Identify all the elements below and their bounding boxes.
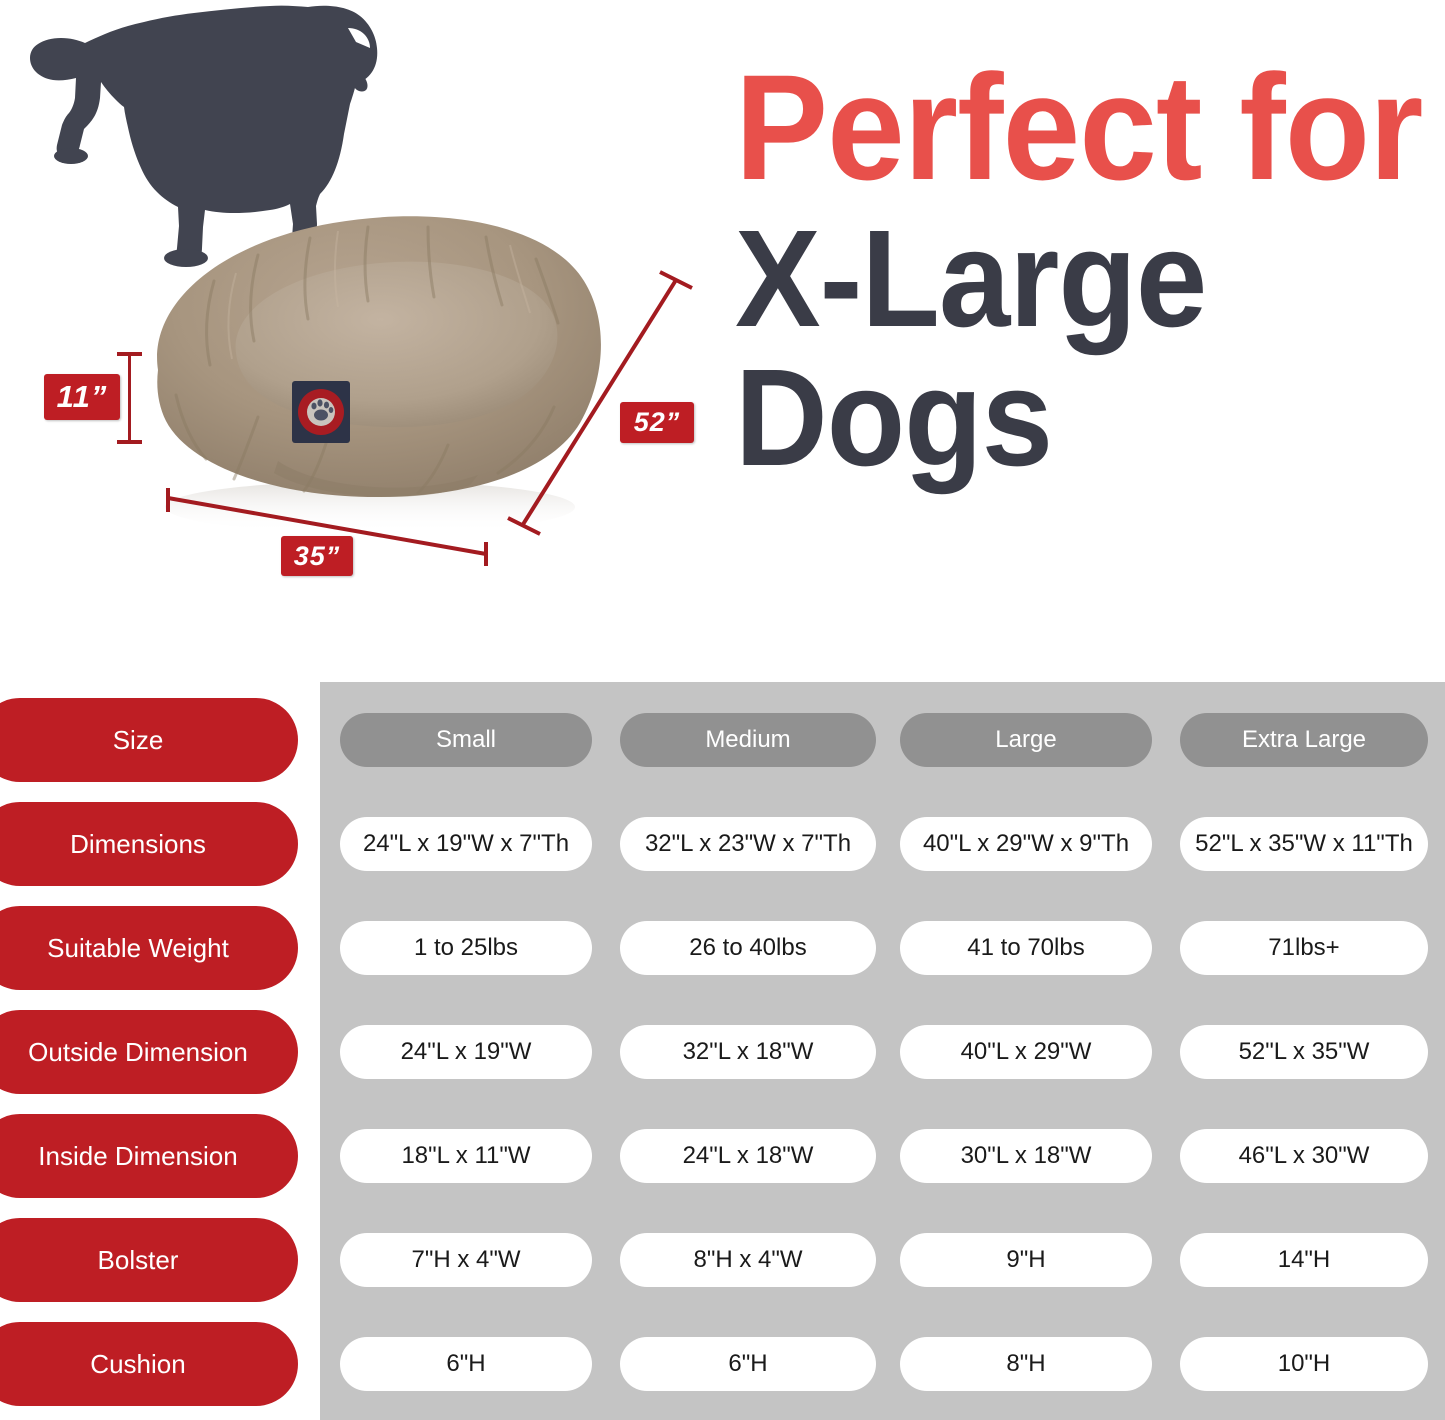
cell-weight-extra-large: 71lbs+ bbox=[1180, 921, 1428, 975]
table-row: Bolster 7"H x 4"W 8"H x 4"W 9"H 14"H bbox=[0, 1218, 1445, 1302]
cell-inside-medium: 24"L x 18"W bbox=[620, 1129, 876, 1183]
table-row: Size Small Medium Large Extra Large bbox=[0, 698, 1445, 782]
width-dimension-label: 35” bbox=[281, 536, 353, 576]
table-row: Dimensions 24"L x 19"W x 7"Th 32"L x 23"… bbox=[0, 802, 1445, 886]
table-row: Suitable Weight 1 to 25lbs 26 to 40lbs 4… bbox=[0, 906, 1445, 990]
row-label-outside-dimension: Outside Dimension bbox=[0, 1010, 298, 1094]
column-header-large: Large bbox=[900, 713, 1152, 767]
cell-weight-medium: 26 to 40lbs bbox=[620, 921, 876, 975]
headline-line-1: Perfect for bbox=[735, 58, 1386, 196]
table-row: Inside Dimension 18"L x 11"W 24"L x 18"W… bbox=[0, 1114, 1445, 1198]
cell-bolster-small: 7"H x 4"W bbox=[340, 1233, 592, 1287]
cell-weight-large: 41 to 70lbs bbox=[900, 921, 1152, 975]
height-dimension-label: 11” bbox=[44, 374, 120, 420]
row-label-dimensions: Dimensions bbox=[0, 802, 298, 886]
cell-inside-small: 18"L x 11"W bbox=[340, 1129, 592, 1183]
cell-dimensions-large: 40"L x 29"W x 9"Th bbox=[900, 817, 1152, 871]
length-dimension-label: 52” bbox=[620, 402, 694, 443]
cell-cushion-extra-large: 10"H bbox=[1180, 1337, 1428, 1391]
size-chart: Size Small Medium Large Extra Large Dime… bbox=[0, 682, 1445, 1420]
row-label-cushion: Cushion bbox=[0, 1322, 298, 1406]
row-label-suitable-weight: Suitable Weight bbox=[0, 906, 298, 990]
table-row: Cushion 6"H 6"H 8"H 10"H bbox=[0, 1322, 1445, 1406]
row-label-inside-dimension: Inside Dimension bbox=[0, 1114, 298, 1198]
column-header-small: Small bbox=[340, 713, 592, 767]
cell-cushion-large: 8"H bbox=[900, 1337, 1152, 1391]
headline-line-3: Dogs bbox=[735, 355, 1386, 482]
cell-outside-large: 40"L x 29"W bbox=[900, 1025, 1152, 1079]
column-header-medium: Medium bbox=[620, 713, 876, 767]
row-label-size: Size bbox=[0, 698, 298, 782]
headline: Perfect for X-Large Dogs bbox=[735, 58, 1435, 482]
cell-outside-extra-large: 52"L x 35"W bbox=[1180, 1025, 1428, 1079]
cell-cushion-small: 6"H bbox=[340, 1337, 592, 1391]
hero-section: 11” 35” 52” Perfect for X-Large Dogs bbox=[0, 0, 1445, 660]
cell-dimensions-medium: 32"L x 23"W x 7"Th bbox=[620, 817, 876, 871]
table-row: Outside Dimension 24"L x 19"W 32"L x 18"… bbox=[0, 1010, 1445, 1094]
height-dimension-cap-top bbox=[117, 352, 142, 356]
column-header-extra-large: Extra Large bbox=[1180, 713, 1428, 767]
brand-tag bbox=[292, 381, 350, 443]
height-dimension-cap-bottom bbox=[117, 440, 142, 444]
cell-inside-extra-large: 46"L x 30"W bbox=[1180, 1129, 1428, 1183]
cell-dimensions-small: 24"L x 19"W x 7"Th bbox=[340, 817, 592, 871]
cell-bolster-medium: 8"H x 4"W bbox=[620, 1233, 876, 1287]
cell-outside-small: 24"L x 19"W bbox=[340, 1025, 592, 1079]
cell-cushion-medium: 6"H bbox=[620, 1337, 876, 1391]
cell-dimensions-extra-large: 52"L x 35"W x 11"Th bbox=[1180, 817, 1428, 871]
row-label-bolster: Bolster bbox=[0, 1218, 298, 1302]
cell-bolster-extra-large: 14"H bbox=[1180, 1233, 1428, 1287]
infographic-page: 11” 35” 52” Perfect for X-Large Dogs Siz… bbox=[0, 0, 1445, 1420]
headline-line-2: X-Large bbox=[735, 216, 1386, 343]
cell-outside-medium: 32"L x 18"W bbox=[620, 1025, 876, 1079]
cell-inside-large: 30"L x 18"W bbox=[900, 1129, 1152, 1183]
height-dimension-line bbox=[128, 352, 131, 444]
cell-bolster-large: 9"H bbox=[900, 1233, 1152, 1287]
cell-weight-small: 1 to 25lbs bbox=[340, 921, 592, 975]
